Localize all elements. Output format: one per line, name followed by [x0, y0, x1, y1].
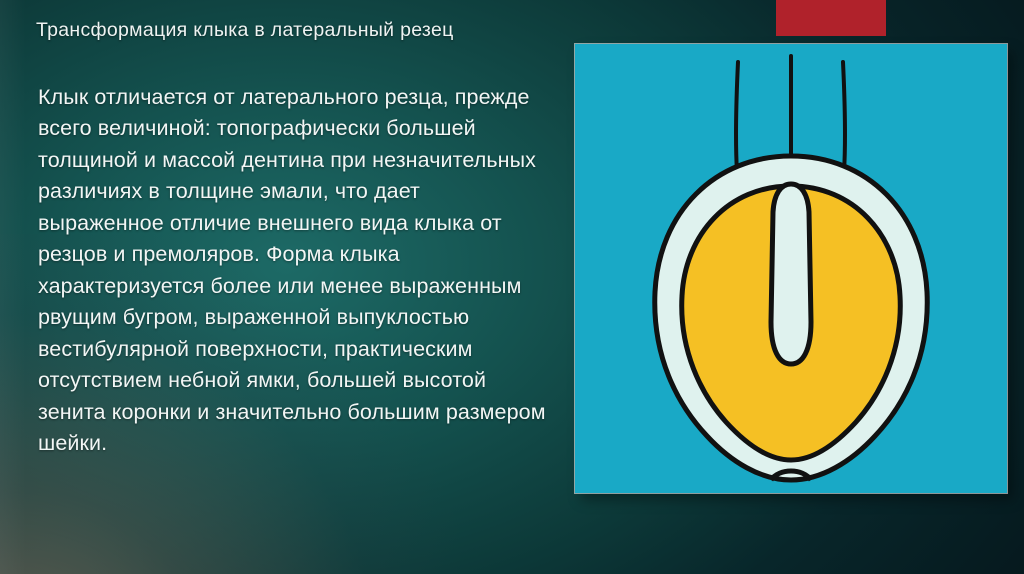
root-line-left [736, 62, 738, 172]
root-line-right [843, 62, 845, 172]
slide: Трансформация клыка в латеральный резец … [0, 0, 1024, 574]
tooth-cross-section-image [575, 44, 1007, 493]
page-title: Трансформация клыка в латеральный резец [36, 18, 576, 42]
body-paragraph: Клык отличается от латерального резца, п… [38, 82, 548, 460]
tooth-cross-section-diagram [575, 44, 1007, 493]
accent-bar [776, 0, 886, 36]
pulp-chamber [771, 184, 811, 364]
